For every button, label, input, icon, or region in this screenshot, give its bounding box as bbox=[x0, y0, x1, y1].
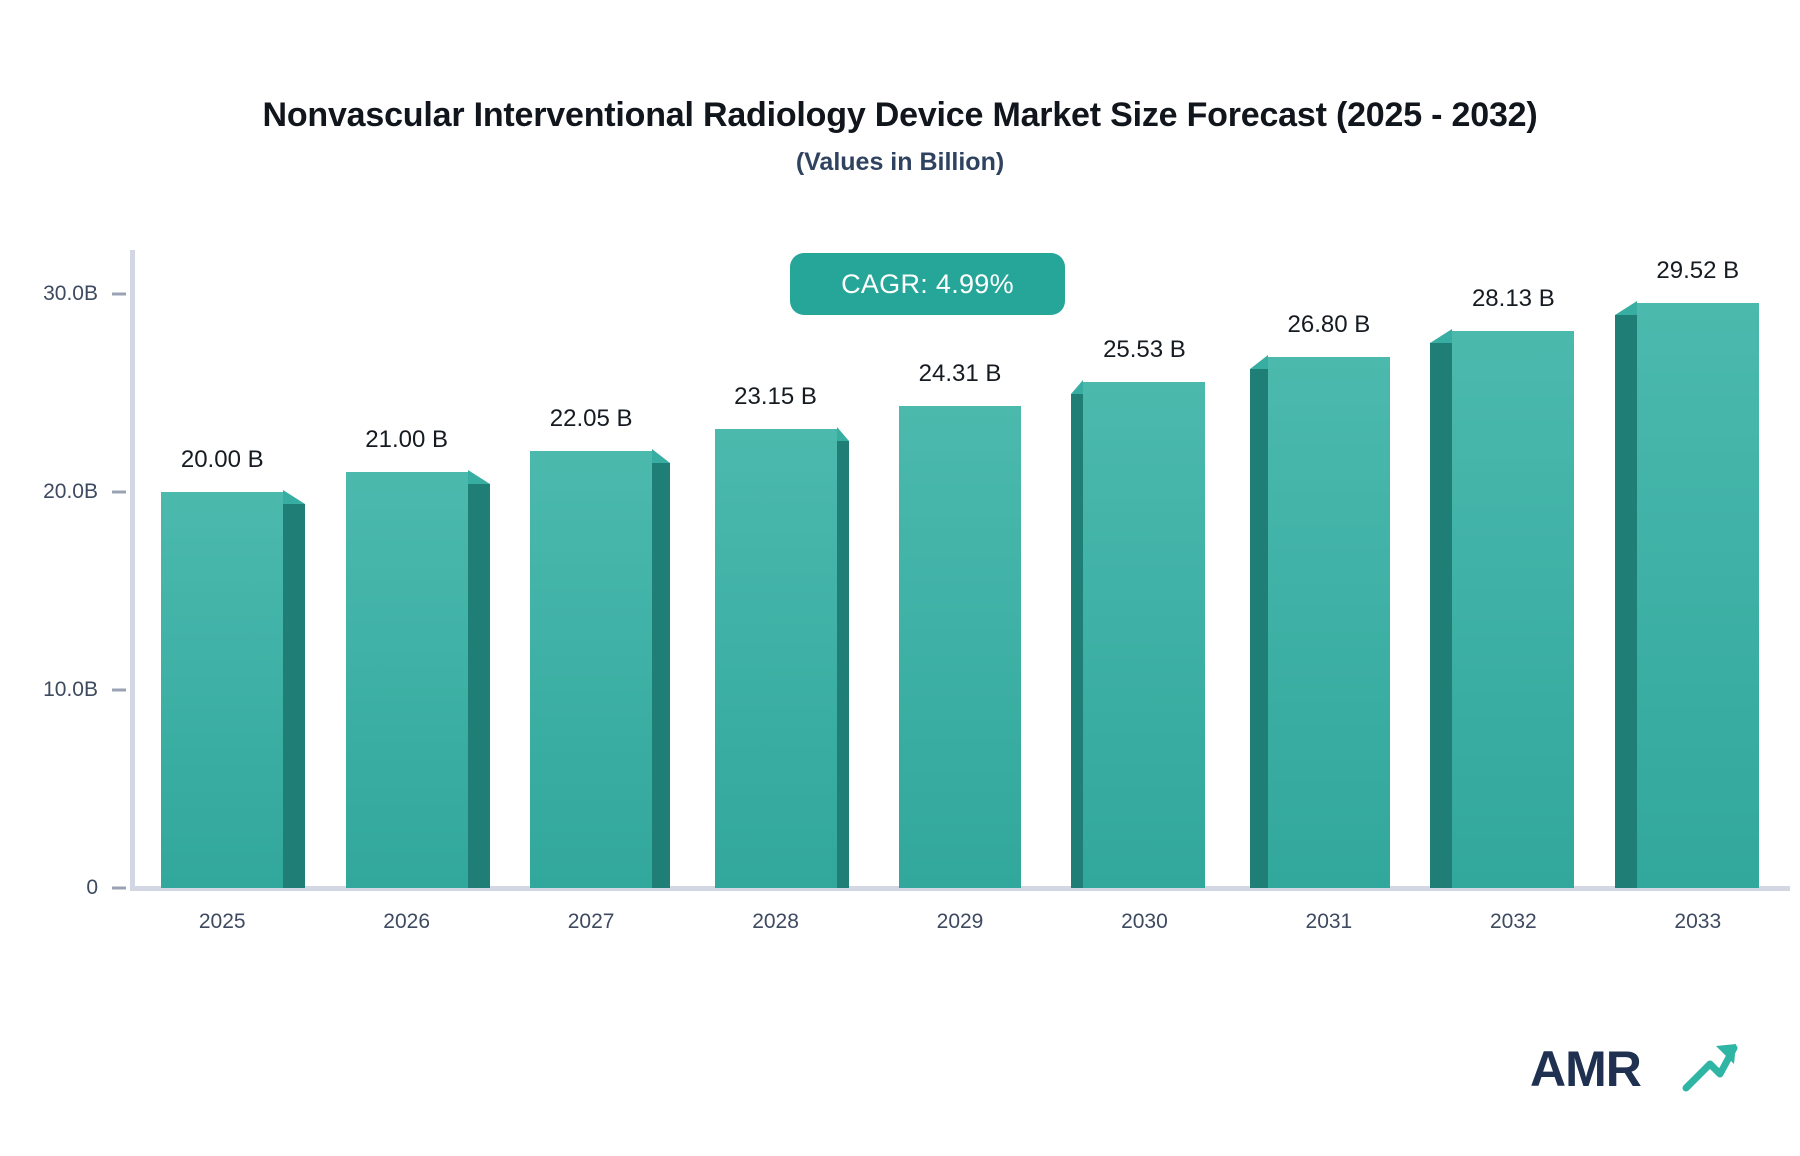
bar-face bbox=[715, 429, 837, 888]
bar-body bbox=[1083, 382, 1205, 888]
bar-body bbox=[161, 492, 283, 888]
bar-top-face bbox=[1430, 329, 1452, 343]
bar-body bbox=[1268, 357, 1390, 888]
y-axis-tick-mark bbox=[112, 490, 126, 493]
bar-body bbox=[899, 406, 1021, 888]
x-axis-tick-label: 2030 bbox=[1121, 910, 1168, 934]
bar-value-label: 26.80 B bbox=[1288, 311, 1371, 339]
chart-subtitle: (Values in Billion) bbox=[0, 148, 1800, 177]
bar-2033[interactable]: 29.52 B bbox=[1637, 250, 1759, 888]
y-axis-tick-mark bbox=[112, 688, 126, 691]
bar-face bbox=[161, 492, 283, 888]
bar-top-face bbox=[468, 470, 490, 484]
x-axis-tick-label: 2026 bbox=[383, 910, 430, 934]
bar-body bbox=[1637, 303, 1759, 888]
bar-2032[interactable]: 28.13 B bbox=[1452, 250, 1574, 888]
cagr-badge: CAGR: 4.99% bbox=[790, 253, 1065, 315]
bar-face bbox=[1268, 357, 1390, 888]
x-axis-tick-label: 2027 bbox=[568, 910, 615, 934]
cagr-badge-label: CAGR: 4.99% bbox=[841, 269, 1014, 300]
plot-area: 20.00 B21.00 B22.05 B23.15 B24.31 B25.53… bbox=[130, 250, 1790, 888]
bar-top-face bbox=[837, 427, 849, 441]
y-axis-tick-label: 30.0B bbox=[43, 282, 98, 306]
bar-value-label: 28.13 B bbox=[1472, 285, 1555, 313]
bar-2031[interactable]: 26.80 B bbox=[1268, 250, 1390, 888]
chart-title: Nonvascular Interventional Radiology Dev… bbox=[0, 96, 1800, 135]
x-axis-tick-label: 2032 bbox=[1490, 910, 1537, 934]
chart-canvas: Nonvascular Interventional Radiology Dev… bbox=[0, 0, 1800, 1156]
bar-face bbox=[346, 472, 468, 888]
bar-value-label: 24.31 B bbox=[919, 360, 1002, 388]
x-axis-tick-label: 2025 bbox=[199, 910, 246, 934]
bar-face bbox=[1083, 382, 1205, 888]
bar-2029[interactable]: 24.31 B bbox=[899, 250, 1021, 888]
bar-value-label: 25.53 B bbox=[1103, 336, 1186, 364]
y-axis-tick-label: 20.0B bbox=[43, 480, 98, 504]
bar-body bbox=[530, 451, 652, 888]
bar-face bbox=[1452, 331, 1574, 888]
x-axis-tick-label: 2033 bbox=[1674, 910, 1721, 934]
bar-body bbox=[1452, 331, 1574, 888]
bar-top-face bbox=[1615, 301, 1637, 315]
bar-2025[interactable]: 20.00 B bbox=[161, 250, 283, 888]
bar-side-face bbox=[1250, 369, 1268, 888]
x-axis-tick-label: 2028 bbox=[752, 910, 799, 934]
amr-logo-text: AMR bbox=[1530, 1040, 1641, 1098]
bar-side-face bbox=[837, 441, 849, 888]
y-axis-tick-label: 10.0B bbox=[43, 678, 98, 702]
growth-arrow-icon bbox=[1680, 1042, 1738, 1094]
bar-side-face bbox=[283, 504, 305, 888]
bar-side-face bbox=[1430, 343, 1452, 888]
bar-2026[interactable]: 21.00 B bbox=[346, 250, 468, 888]
bar-top-face bbox=[652, 449, 670, 463]
y-axis-tick-mark bbox=[112, 887, 126, 890]
bar-face bbox=[530, 451, 652, 888]
bar-2030[interactable]: 25.53 B bbox=[1083, 250, 1205, 888]
bar-side-face bbox=[1615, 315, 1637, 888]
bar-value-label: 22.05 B bbox=[550, 405, 633, 433]
bar-body bbox=[346, 472, 468, 888]
bar-face bbox=[1637, 303, 1759, 888]
bar-value-label: 20.00 B bbox=[181, 446, 264, 474]
bar-2028[interactable]: 23.15 B bbox=[715, 250, 837, 888]
bar-2027[interactable]: 22.05 B bbox=[530, 250, 652, 888]
bar-face bbox=[899, 406, 1021, 888]
x-axis-tick-label: 2029 bbox=[937, 910, 984, 934]
bar-top-face bbox=[283, 490, 305, 504]
bar-body bbox=[715, 429, 837, 888]
bar-side-face bbox=[652, 463, 670, 888]
bar-side-face bbox=[1071, 394, 1083, 888]
y-axis-tick-label: 0 bbox=[86, 876, 98, 900]
y-axis-tick-mark bbox=[112, 292, 126, 295]
bar-value-label: 23.15 B bbox=[734, 383, 817, 411]
bar-side-face bbox=[468, 484, 490, 888]
amr-logo: AMR bbox=[1530, 1040, 1740, 1110]
bar-top-face bbox=[1071, 380, 1083, 394]
x-axis-tick-label: 2031 bbox=[1306, 910, 1353, 934]
bar-value-label: 29.52 B bbox=[1656, 257, 1739, 285]
bar-value-label: 21.00 B bbox=[365, 426, 448, 454]
bar-top-face bbox=[1250, 355, 1268, 369]
